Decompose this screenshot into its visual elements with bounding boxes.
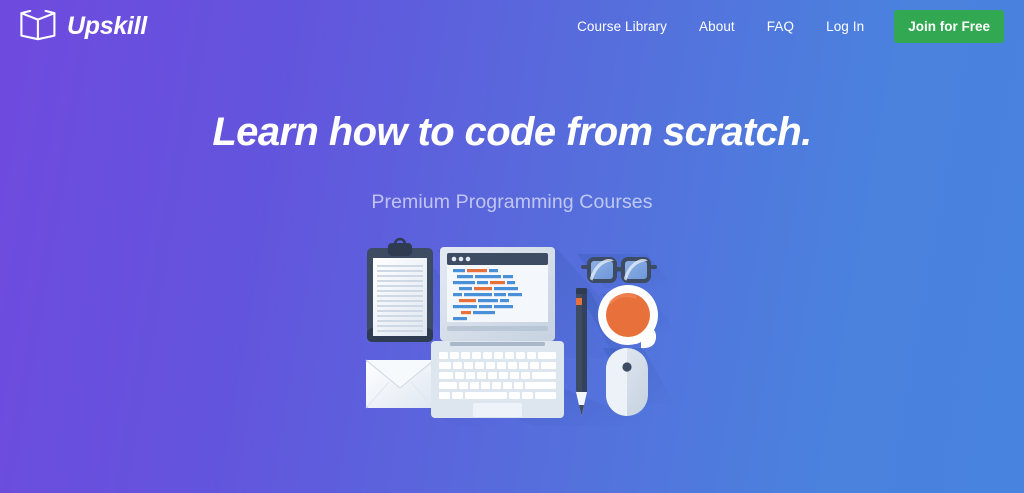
nav-link-faq[interactable]: FAQ bbox=[751, 13, 810, 40]
brand-name: Upskill bbox=[67, 12, 147, 41]
desk-workspace-illustration bbox=[355, 236, 675, 426]
nav-link-course-library[interactable]: Course Library bbox=[561, 13, 683, 40]
nav-link-about[interactable]: About bbox=[683, 13, 751, 40]
pencil-icon bbox=[576, 288, 587, 416]
open-book-icon bbox=[18, 10, 58, 42]
clipboard-icon bbox=[367, 239, 433, 342]
main-navigation: Course Library About FAQ Log In Join for… bbox=[561, 10, 1004, 43]
computer-mouse-icon bbox=[606, 348, 648, 416]
site-header: Upskill Course Library About FAQ Log In … bbox=[0, 0, 1024, 52]
hero-subheadline: Premium Programming Courses bbox=[0, 191, 1024, 214]
brand-logo-link[interactable]: Upskill bbox=[18, 10, 147, 42]
nav-link-log-in[interactable]: Log In bbox=[810, 13, 880, 40]
envelope-icon bbox=[366, 360, 434, 408]
laptop-icon bbox=[431, 247, 564, 418]
hero-headline: Learn how to code from scratch. bbox=[0, 110, 1024, 154]
join-for-free-button[interactable]: Join for Free bbox=[894, 10, 1004, 43]
